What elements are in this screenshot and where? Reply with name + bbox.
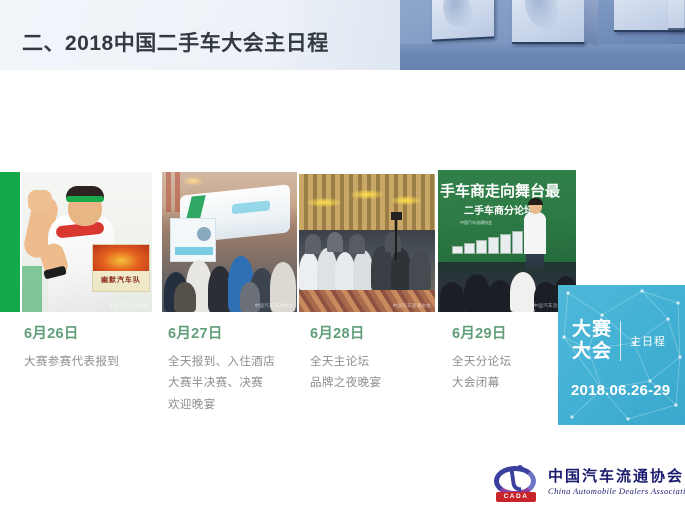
photo3-attendee <box>305 234 321 254</box>
photo2-watermark: 中国汽车流通协会 <box>255 303 293 309</box>
photo4-attendee <box>510 272 536 312</box>
photo3-attendee <box>349 234 365 254</box>
schedule-column-day4: 6月29日 全天分论坛 大会闭幕 <box>452 322 602 395</box>
photo4-chart-bar <box>452 246 463 254</box>
photo4-speaker-hair <box>528 198 543 205</box>
photo1-green-panel <box>22 266 42 312</box>
photo3-attendee <box>317 248 337 290</box>
photo4-chart-bar <box>488 237 499 254</box>
photo3-attendee <box>327 232 343 252</box>
photo2-booth-logo <box>232 200 270 214</box>
schedule-item: 大会闭幕 <box>452 373 602 394</box>
photo1-watermark: 中国汽车流通协会 <box>110 303 148 309</box>
schedule-item: 全天报到、入住酒店 <box>168 352 318 373</box>
header-banner-image <box>400 0 685 70</box>
schedule-column-day1: 6月26日 大赛参赛代表报到 <box>24 322 174 373</box>
photo-conference-audience: 中国汽车流通协会 <box>299 174 435 312</box>
schedule-item: 品牌之夜晚宴 <box>310 373 460 394</box>
org-name-en: China Automobile Dealers Association <box>548 486 685 496</box>
schedule-item: 大赛半决赛、决赛 <box>168 373 318 394</box>
schedule-column-day3: 6月28日 全天主论坛 品牌之夜晚宴 <box>310 322 460 395</box>
photo2-chandelier <box>182 176 204 186</box>
photo3-attendee <box>409 250 431 290</box>
schedule-columns: 6月26日 大赛参赛代表报到 6月27日 全天报到、入住酒店 大赛半决赛、决赛 … <box>0 322 685 432</box>
green-accent-bar <box>0 172 20 312</box>
schedule-item: 大赛参赛代表报到 <box>24 352 174 373</box>
photo4-stage-subtitle: 二手车商分论坛 <box>464 202 534 217</box>
photo2-pillar <box>166 172 171 212</box>
photo4-chart-bar <box>464 243 475 254</box>
schedule-date-day4: 6月29日 <box>452 322 602 343</box>
photo-registration-crowd: 中国汽车流通协会 <box>162 172 297 312</box>
photo4-attendee <box>488 280 512 312</box>
schedule-date-day3: 6月28日 <box>310 322 460 343</box>
cada-abbrev-badge: CADA <box>496 492 536 502</box>
photo-athlete-celebrating: 幽默汽车队 中国汽车流通协会 <box>22 172 152 312</box>
schedule-column-day2: 6月27日 全天报到、入住酒店 大赛半决赛、决赛 欢迎晚宴 <box>168 322 318 416</box>
photo3-attendee <box>335 252 355 290</box>
photo3-ceiling-lamp <box>391 196 421 205</box>
photo4-attendee <box>464 274 490 312</box>
banner-cube-map-icon <box>443 0 472 28</box>
photo3-audience-rows <box>299 230 435 290</box>
banner-floor <box>400 44 685 70</box>
photo3-ceiling-lamp <box>307 198 341 207</box>
photo3-camera-tripod <box>395 218 397 260</box>
photo3-attendee <box>385 232 401 252</box>
photo1-sign-graphic <box>93 245 149 271</box>
header-banner: 二、2018中国二手车大会主日程 <box>0 0 685 70</box>
photo1-team-sign: 幽默汽车队 <box>92 244 150 292</box>
photo1-sign-text: 幽默汽车队 <box>93 275 149 285</box>
banner-cube-1 <box>432 0 494 42</box>
page-title: 二、2018中国二手车大会主日程 <box>22 27 329 57</box>
photo4-chart-bar <box>512 231 523 254</box>
cada-dot-icon <box>517 465 523 471</box>
schedule-date-day2: 6月27日 <box>168 322 318 343</box>
photo4-chart-bar <box>500 234 511 254</box>
schedule-item: 全天分论坛 <box>452 352 602 373</box>
photo4-attendee <box>440 282 464 312</box>
photo-strip: 幽默汽车队 中国汽车流通协会 中国汽车流通协会 <box>0 140 685 315</box>
photo4-speaker-torso <box>524 212 546 254</box>
footer-logo: CADA 中国汽车流通协会 China Automobile Dealers A… <box>492 464 678 506</box>
cada-emblem-icon: CADA <box>492 466 542 502</box>
photo2-crowd <box>162 230 297 312</box>
banner-cube-4 <box>668 0 685 30</box>
photo3-attendee <box>299 252 319 290</box>
photo4-chart-bar <box>476 240 487 254</box>
photo3-ceiling-lamp <box>351 190 383 199</box>
photo1-headband <box>66 196 104 202</box>
photo-green-stage-forum: 手车商走向舞台最 二手车商分论坛 中国汽车流通协会 中国汽车流通协会 <box>438 170 576 312</box>
photo3-attendee <box>391 248 411 290</box>
schedule-item: 全天主论坛 <box>310 352 460 373</box>
schedule-item: 欢迎晚宴 <box>168 395 318 416</box>
photo1-fist <box>28 190 52 212</box>
org-name-cn: 中国汽车流通协会 <box>548 465 684 486</box>
photo4-stage-headline: 手车商走向舞台最 <box>440 180 560 201</box>
photo3-attendee <box>371 246 393 290</box>
banner-cube-2 <box>512 0 584 44</box>
photo3-attendee <box>353 250 373 290</box>
photo2-person <box>174 282 196 312</box>
photo3-watermark: 中国汽车流通协会 <box>393 303 431 309</box>
schedule-date-day1: 6月26日 <box>24 322 174 343</box>
photo4-stage-org: 中国汽车流通协会 <box>460 220 492 226</box>
banner-cube-map-icon <box>525 0 558 28</box>
